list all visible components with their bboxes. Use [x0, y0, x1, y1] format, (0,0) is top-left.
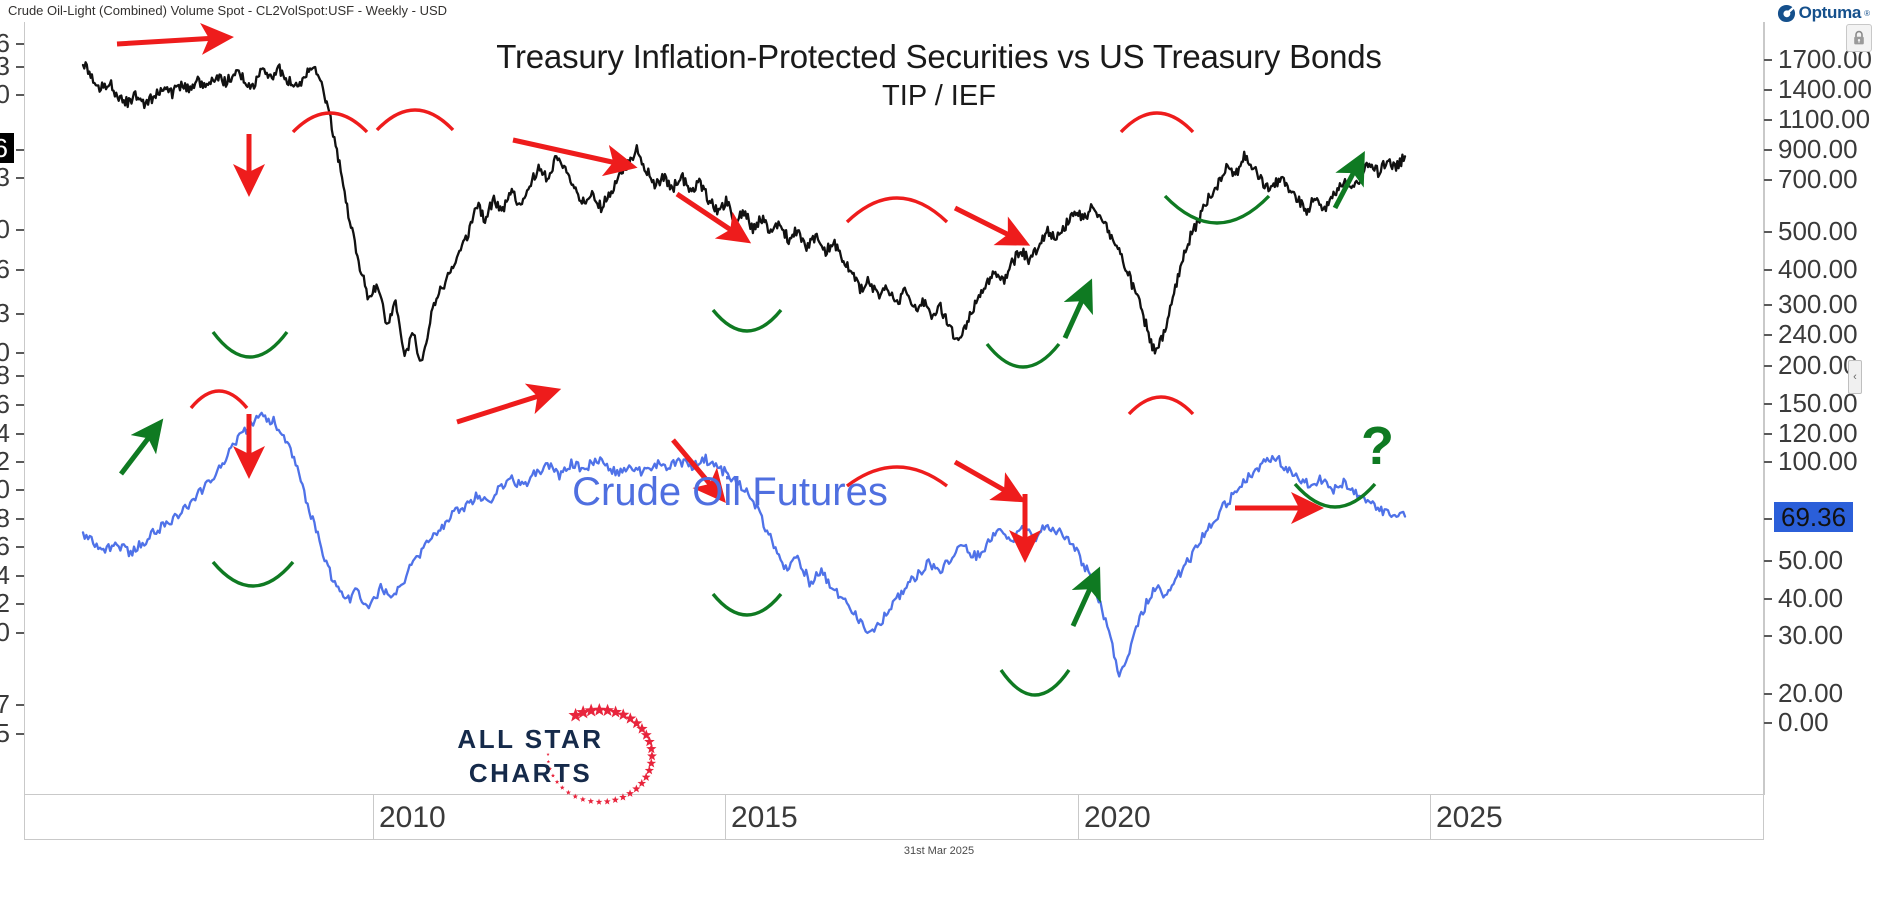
axis-tick-label: 500.00	[1778, 218, 1858, 244]
axis-tick-label: 0.77	[0, 691, 10, 717]
axis-tick-mark	[1764, 722, 1772, 724]
axis-tick-mark	[1764, 334, 1772, 336]
lock-icon[interactable]	[1846, 24, 1872, 52]
logo-star	[580, 796, 586, 802]
annotation-arc-top-2022	[1121, 113, 1193, 132]
time-axis-label: 2015	[725, 801, 798, 835]
crude-oil-rendered-line	[83, 413, 1405, 677]
axis-tick-mark	[16, 733, 24, 735]
logo-star	[632, 785, 640, 793]
left-axis-rule	[24, 22, 25, 795]
plot-area[interactable]: ?	[24, 22, 1764, 795]
axis-tick-label: 120.00	[1778, 420, 1858, 446]
axis-tick-mark	[1764, 149, 1772, 151]
optuma-logo-icon	[1777, 4, 1796, 23]
axis-tick-mark	[1764, 518, 1772, 520]
axis-tick-label: 900.00	[1778, 136, 1858, 162]
annotation-arc-bottom-crude-2020	[1001, 670, 1069, 695]
time-axis-label: 2010	[373, 801, 446, 835]
annotation-arc-top-crude-2022	[1129, 397, 1193, 414]
axis-tick-mark	[1764, 231, 1772, 233]
axis-tick-label: 0.94	[0, 420, 10, 446]
annotation-arc-bottom-crude-2016	[713, 594, 781, 615]
annotation-arrow-downtrend-2019	[955, 208, 1015, 238]
annotation-arrow-crude-uptrend-2007	[121, 432, 153, 474]
axis-tick-mark	[16, 632, 24, 634]
all-star-charts-logo: ALL STAR CHARTS	[448, 700, 678, 810]
logo-star	[566, 790, 571, 795]
axis-tick-mark	[16, 518, 24, 520]
annotation-arc-top-crude-2008	[191, 391, 247, 408]
optuma-trademark: ®	[1864, 9, 1870, 18]
axis-tick-mark	[16, 149, 24, 151]
axis-tick-mark	[16, 375, 24, 377]
series-path	[83, 413, 1405, 677]
axis-tick-mark	[16, 269, 24, 271]
logo-line-1: ALL STAR	[448, 722, 613, 756]
optuma-branding: Optuma ®	[1777, 2, 1870, 24]
annotation-arrow-downtrend-2013	[513, 140, 621, 164]
axis-tick-label: 300.00	[1778, 291, 1858, 317]
axis-tick-label: 0.00	[1778, 709, 1829, 735]
logo-star	[619, 793, 627, 800]
axis-tick-mark	[1764, 433, 1772, 435]
annotation-layer: ?	[117, 38, 1394, 695]
annotation-arrow-crude-range-2012	[457, 394, 545, 422]
window-titlebar: Crude Oil-Light (Combined) Volume Spot -…	[0, 0, 1878, 22]
axis-tick-label: 69.36	[1774, 502, 1853, 532]
axis-tick-mark	[16, 461, 24, 463]
axis-tick-label: 400.00	[1778, 256, 1858, 282]
axis-tick-mark	[1764, 693, 1772, 695]
axis-tick-mark	[16, 575, 24, 577]
annotation-arc-bottom-2016	[713, 310, 781, 331]
axis-tick-mark	[1764, 461, 1772, 463]
axis-tick-mark	[16, 177, 24, 179]
axis-tick-label: 0.75	[0, 720, 10, 746]
axis-tick-mark	[16, 229, 24, 231]
annotation-arc-bottom-crude-2009	[213, 562, 293, 586]
logo-star	[573, 794, 579, 799]
axis-tick-label: 20.00	[1778, 680, 1843, 706]
axis-tick-label: 200.00	[1778, 352, 1858, 378]
axis-tick-mark	[1764, 269, 1772, 271]
time-axis[interactable]: 2010201520202025	[24, 795, 1764, 840]
axis-tick-label: 1.16	[0, 133, 14, 163]
annotation-question-mark: ?	[1361, 416, 1394, 476]
panel-collapse-handle[interactable]: ‹	[1848, 360, 1862, 394]
annotation-arc-top-2012	[377, 110, 453, 130]
axis-tick-mark	[16, 404, 24, 406]
axis-tick-label: 0.80	[0, 619, 10, 645]
time-axis-label: 2025	[1430, 801, 1503, 835]
axis-tick-mark	[16, 546, 24, 548]
right-axis-rule	[1764, 22, 1765, 795]
logo-star	[604, 798, 611, 805]
crude-oil-series-label: Crude Oil Futures	[0, 470, 1460, 515]
chart-footer-date: 31st Mar 2025	[0, 845, 1878, 857]
axis-tick-label: 1.13	[0, 164, 10, 190]
annotation-arc-top-2018	[847, 198, 947, 222]
axis-tick-mark	[1764, 635, 1772, 637]
chart-canvas: ?	[25, 22, 1765, 795]
axis-tick-label: 30.00	[1778, 622, 1843, 648]
axis-tick-label: 50.00	[1778, 547, 1843, 573]
annotation-arc-bottom-2020	[987, 344, 1059, 367]
logo-star	[638, 779, 647, 787]
axis-tick-mark	[16, 603, 24, 605]
axis-tick-mark	[1764, 179, 1772, 181]
annotation-arc-bottom-2023	[1165, 196, 1269, 223]
logo-star	[596, 799, 603, 805]
axis-tick-label: 1.10	[0, 216, 10, 242]
chart-subtitle: TIP / IEF	[0, 80, 1878, 113]
axis-tick-label: 0.98	[0, 362, 10, 388]
axis-tick-label: 100.00	[1778, 448, 1858, 474]
annotation-arrow-crude-recovery-2020	[1073, 582, 1093, 626]
axis-tick-mark	[1764, 304, 1772, 306]
axis-tick-mark	[1764, 598, 1772, 600]
axis-tick-mark	[1764, 560, 1772, 562]
axis-tick-label: 0.84	[0, 562, 10, 588]
axis-tick-mark	[1764, 403, 1772, 405]
axis-tick-mark	[1764, 365, 1772, 367]
axis-tick-label: 240.00	[1778, 321, 1858, 347]
logo-star	[588, 798, 594, 804]
annotation-arc-bottom-2008	[213, 332, 287, 357]
logo-line-2: CHARTS	[448, 756, 613, 790]
axis-tick-label: 1.03	[0, 300, 10, 326]
logo-star	[642, 773, 651, 781]
axis-tick-mark	[16, 433, 24, 435]
axis-tick-label: 150.00	[1778, 390, 1858, 416]
axis-tick-mark	[16, 704, 24, 706]
axis-tick-label: 40.00	[1778, 585, 1843, 611]
chart-title: Treasury Inflation-Protected Securities …	[0, 38, 1878, 76]
logo-star	[601, 704, 614, 716]
axis-tick-mark	[16, 352, 24, 354]
logo-star	[626, 789, 634, 797]
chart-window: Crude Oil-Light (Combined) Volume Spot -…	[0, 0, 1878, 924]
axis-tick-label: 0.96	[0, 391, 10, 417]
lock-glyph	[1852, 30, 1866, 46]
axis-tick-label: 700.00	[1778, 166, 1858, 192]
axis-tick-label: 1.06	[0, 256, 10, 282]
axis-tick-label: 0.86	[0, 533, 10, 559]
logo-star	[612, 796, 619, 803]
optuma-wordmark: Optuma	[1799, 3, 1861, 23]
logo-wordmark: ALL STAR CHARTS	[448, 722, 613, 790]
annotation-arrow-recovery-2020	[1065, 294, 1085, 338]
time-axis-label: 2020	[1078, 801, 1151, 835]
axis-tick-label: 0.82	[0, 590, 10, 616]
axis-tick-mark	[16, 313, 24, 315]
axis-tick-mark	[1764, 119, 1772, 121]
